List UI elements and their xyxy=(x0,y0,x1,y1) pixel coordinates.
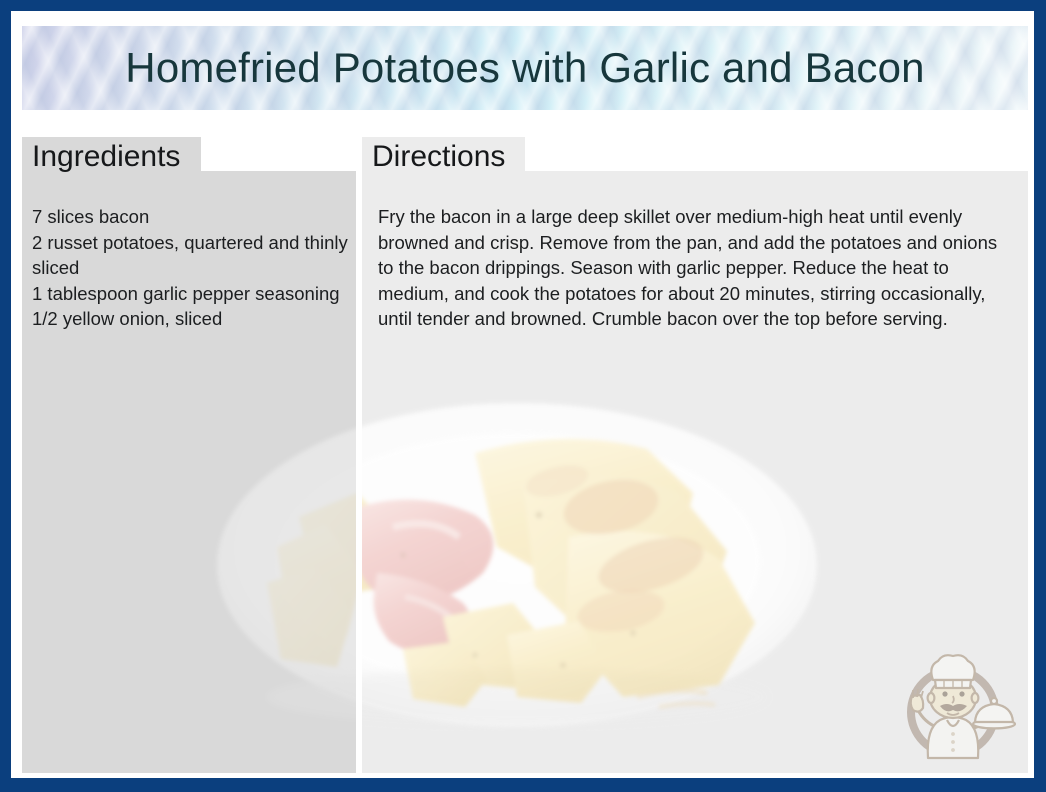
ingredients-list: 7 slices bacon 2 russet potatoes, quarte… xyxy=(32,204,350,332)
chef-logo xyxy=(890,640,1016,766)
slide-canvas: Homefried Potatoes with Garlic and Bacon xyxy=(11,11,1034,778)
ingredient-item: 1 tablespoon garlic pepper seasoning xyxy=(32,281,350,307)
directions-body: Fry the bacon in a large deep skillet ov… xyxy=(378,204,1006,332)
panel-divider xyxy=(356,171,362,773)
ingredient-item: 2 russet potatoes, quartered and thinly … xyxy=(32,230,350,281)
tab-ingredients: Ingredients xyxy=(22,137,201,177)
directions-heading: Directions xyxy=(372,142,505,172)
title-banner: Homefried Potatoes with Garlic and Bacon xyxy=(22,26,1028,110)
recipe-card-slide: Homefried Potatoes with Garlic and Bacon xyxy=(0,0,1046,792)
page-title: Homefried Potatoes with Garlic and Bacon xyxy=(125,47,924,89)
ingredient-item: 1/2 yellow onion, sliced xyxy=(32,306,350,332)
tab-directions: Directions xyxy=(362,137,525,177)
ingredients-heading: Ingredients xyxy=(32,142,180,172)
ingredient-item: 7 slices bacon xyxy=(32,204,350,230)
